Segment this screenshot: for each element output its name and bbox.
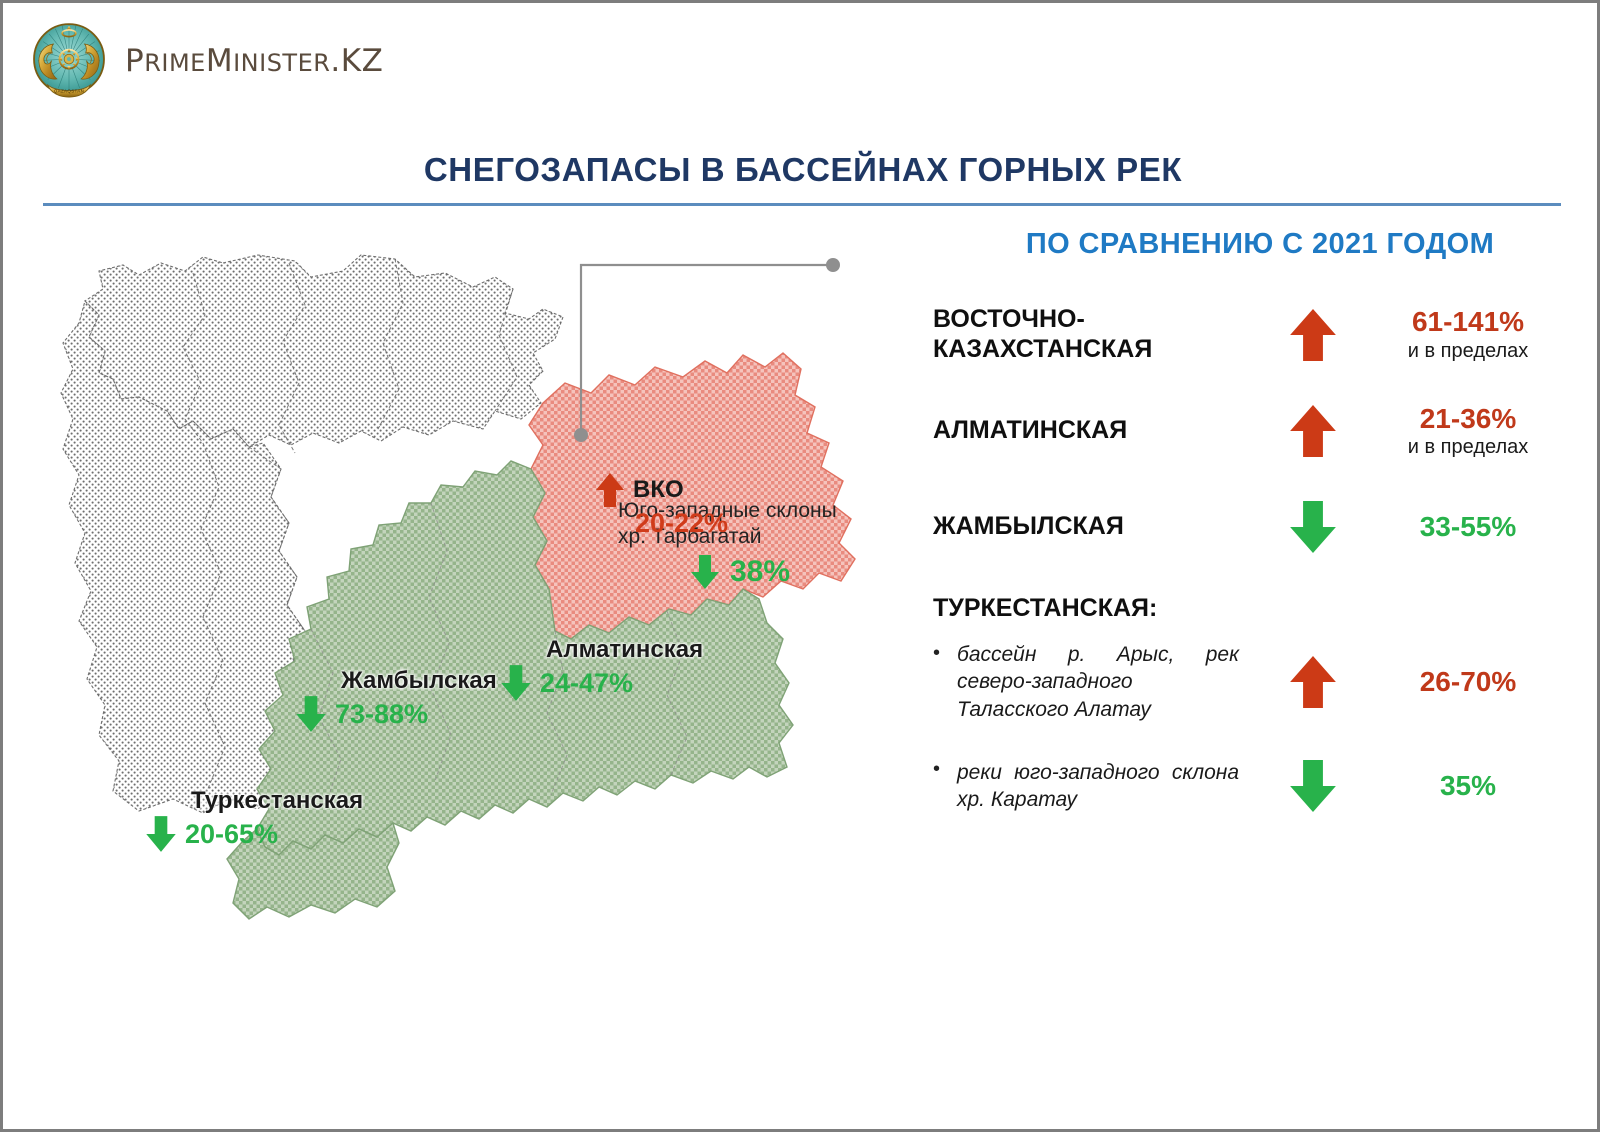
page-title: СНЕГОЗАПАСЫ В БАССЕЙНАХ ГОРНЫХ РЕК — [3, 151, 1600, 189]
panel-row-arrow — [1253, 498, 1373, 556]
panel-row-value: 33-55% — [1373, 511, 1563, 543]
infographic-slide: QAZAQSTAN PRIMEMINISTER.KZ СНЕГОЗАПАСЫ В… — [0, 0, 1600, 1132]
svg-text:QAZAQSTAN: QAZAQSTAN — [54, 89, 84, 94]
panel-row-note: и в пределах — [1373, 435, 1563, 459]
brand-m: M — [206, 43, 233, 79]
callout-value: 38% — [730, 555, 790, 589]
callout-line-1: Юго-западные склоны — [618, 498, 918, 524]
panel-row-value: 21-36% — [1373, 403, 1563, 435]
callout-line-2: хр. Тарбагатай — [618, 524, 918, 550]
turkestan-bullet-row-2: • реки юго-западного склона хр. Каратау … — [933, 757, 1563, 815]
panel-row-name-line1: ВОСТОЧНО- — [933, 305, 1085, 333]
bullet-marker: • — [933, 757, 957, 779]
panel-row-value-block: 33-55% — [1373, 511, 1563, 543]
map-region-vko — [529, 353, 855, 639]
arrow-up-red-icon — [1287, 402, 1339, 460]
comparison-panel: ПО СРАВНЕНИЮ С 2021 ГОДОМ ВОСТОЧНО- КАЗА… — [933, 228, 1563, 849]
bullet-text: бассейн р. Арыс, рек северо-западного Та… — [957, 641, 1253, 723]
brand-dot-kz: .KZ — [330, 43, 383, 79]
arrow-down-green-icon — [1287, 498, 1339, 556]
panel-row-note: и в пределах — [1373, 339, 1563, 363]
panel-row-name: АЛМАТИНСКАЯ — [933, 416, 1253, 446]
panel-row-vostochno-kazakhstanskaya: ВОСТОЧНО- КАЗАХСТАНСКАЯ 61-141% и в пред… — [933, 305, 1563, 364]
panel-row-value: 61-141% — [1373, 306, 1563, 338]
bullet-marker: • — [933, 641, 957, 663]
bullet-arrow — [1253, 653, 1373, 711]
panel-row-name: ВОСТОЧНО- КАЗАХСТАНСКАЯ — [933, 305, 1253, 364]
title-divider — [43, 203, 1561, 206]
panel-row-name: ЖАМБЫЛСКАЯ — [933, 512, 1253, 542]
panel-title: ПО СРАВНЕНИЮ С 2021 ГОДОМ — [933, 228, 1563, 261]
arrow-up-red-icon — [1287, 306, 1339, 364]
arrow-down-green-icon — [688, 553, 722, 591]
bullet-text: реки юго-западного склона хр. Каратау — [957, 759, 1253, 814]
arrow-up-red-icon — [1287, 653, 1339, 711]
kazakhstan-emblem-icon: QAZAQSTAN — [31, 21, 107, 101]
bullet-value: 26-70% — [1373, 666, 1563, 698]
panel-row-zhambylskaya: ЖАМБЫЛСКАЯ 33-55% — [933, 498, 1563, 556]
kazakhstan-map: Юго-западные склоны хр. Тарбагатай 38% В… — [43, 243, 903, 923]
panel-row-arrow — [1253, 402, 1373, 460]
panel-row-value-block: 21-36% и в пределах — [1373, 403, 1563, 459]
arrow-down-green-icon — [1287, 757, 1339, 815]
panel-row-value-block: 61-141% и в пределах — [1373, 306, 1563, 362]
brand-wordmark: PRIMEMINISTER.KZ — [125, 43, 383, 79]
panel-row-almatinskaya: АЛМАТИНСКАЯ 21-36% и в пределах — [933, 402, 1563, 460]
panel-row-name-line2: КАЗАХСТАНСКАЯ — [933, 335, 1152, 363]
callout-tarbagatay: Юго-западные склоны хр. Тарбагатай 38% — [618, 498, 918, 591]
brand-rime: RIME — [144, 49, 206, 77]
brand-inister: INISTER — [233, 49, 330, 77]
bullet-value: 35% — [1373, 770, 1563, 802]
bullet-arrow — [1253, 757, 1373, 815]
turkestan-bullet-row-1: • бассейн р. Арыс, рек северо-западного … — [933, 641, 1563, 723]
brand-p: P — [125, 43, 144, 79]
panel-row-arrow — [1253, 306, 1373, 364]
turkestan-heading: ТУРКЕСТАНСКАЯ: — [933, 594, 1563, 623]
brand-logo: QAZAQSTAN PRIMEMINISTER.KZ — [31, 21, 383, 101]
